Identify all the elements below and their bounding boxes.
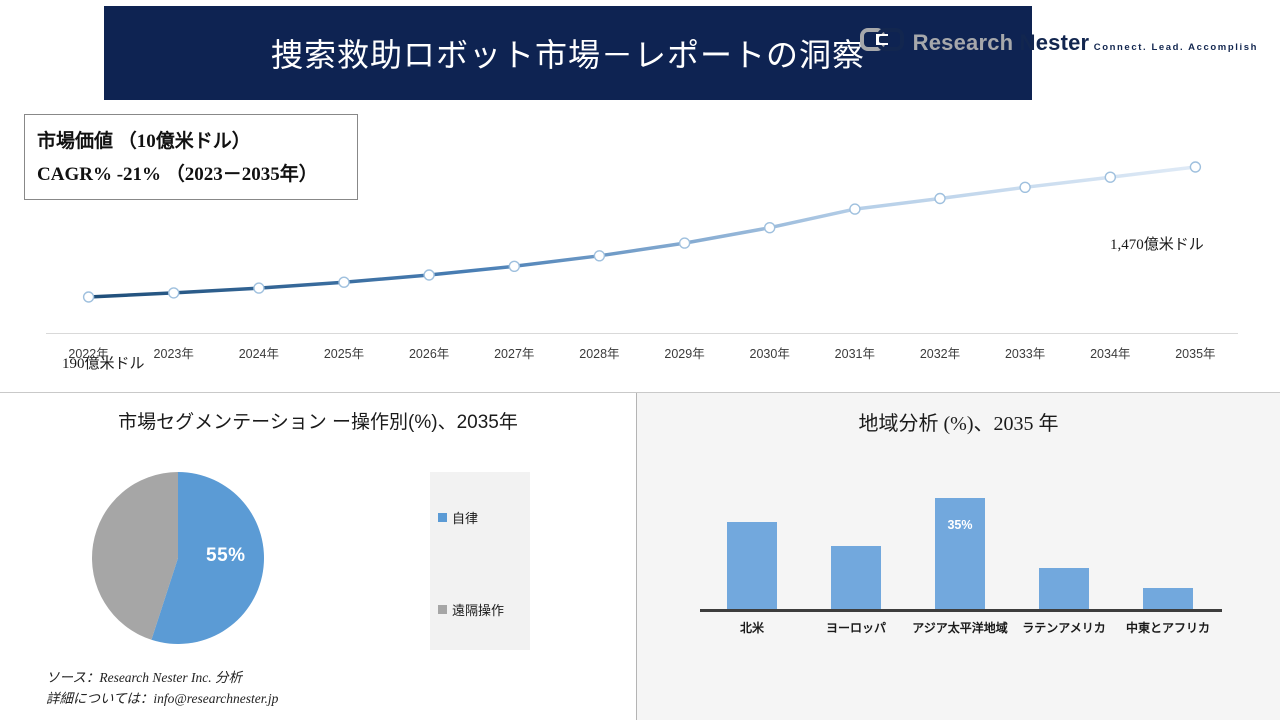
- year-label: 2030年: [727, 343, 812, 369]
- bar-category-label: ラテンアメリカ: [1012, 619, 1116, 641]
- logo-link-icon: [860, 26, 904, 59]
- logo-text: Research Nester Connect. Lead. Accomplis…: [913, 32, 1258, 54]
- line-marker: [935, 194, 945, 204]
- bar-category-labels: 北米ヨーロッパアジア太平洋地域ラテンアメリカ中東とアフリカ: [700, 619, 1220, 641]
- bar-slot: [1012, 470, 1116, 610]
- source-note: ソース：Research Nester Inc. 分析 詳細については：info…: [46, 668, 278, 710]
- line-marker: [680, 238, 690, 248]
- line-marker: [424, 270, 434, 280]
- line-marker: [1020, 182, 1030, 192]
- bar: 35%: [935, 498, 985, 610]
- year-label: 2024年: [216, 343, 301, 369]
- line-marker: [765, 223, 775, 233]
- year-label: 2028年: [557, 343, 642, 369]
- bar-slot: [700, 470, 804, 610]
- line-marker: [1105, 172, 1115, 182]
- logo-word-nester: Nester: [1020, 30, 1090, 55]
- line-marker: [1190, 162, 1200, 172]
- year-label: 2022年: [46, 343, 131, 369]
- bar-row: 35%: [700, 470, 1220, 610]
- legend-item-autonomous[interactable]: 自律: [438, 508, 478, 527]
- page-title: 捜索救助ロボット市場－レポートの洞察: [271, 30, 865, 76]
- bar-data-label: 35%: [935, 518, 985, 532]
- logo-tagline: Connect. Lead. Accomplish: [1094, 42, 1258, 53]
- legend-item-teleoperated[interactable]: 遠隔操作: [438, 600, 504, 619]
- bar-slot: [1116, 470, 1220, 610]
- year-label: 2035年: [1153, 343, 1238, 369]
- legend-label-teleoperated: 遠隔操作: [452, 600, 504, 619]
- bar-chart-baseline: [700, 609, 1222, 612]
- year-label: 2026年: [387, 343, 472, 369]
- year-label: 2034年: [1068, 343, 1153, 369]
- bar: [1039, 568, 1089, 610]
- line-marker: [594, 251, 604, 261]
- segmentation-title: 市場セグメンテーション ー操作別(%)、2035年: [0, 407, 636, 434]
- year-label: 2033年: [983, 343, 1068, 369]
- year-label: 2023年: [131, 343, 216, 369]
- bar-category-label: アジア太平洋地域: [908, 619, 1012, 641]
- year-label: 2025年: [301, 343, 386, 369]
- pie-legend: 自律 遠隔操作: [430, 472, 530, 650]
- logo-word-research: Research: [913, 30, 1014, 55]
- bar-category-label: 北米: [700, 619, 804, 641]
- legend-swatch-autonomous: [438, 513, 447, 522]
- year-label: 2029年: [642, 343, 727, 369]
- source-line-1: ソース：Research Nester Inc. 分析: [46, 668, 278, 689]
- year-label: 2031年: [812, 343, 897, 369]
- line-marker: [169, 288, 179, 298]
- page-header: 捜索救助ロボット市場－レポートの洞察 Research Nester Conne…: [0, 0, 1280, 104]
- year-label: 2027年: [472, 343, 557, 369]
- bar-category-label: 中東とアフリカ: [1116, 619, 1220, 641]
- research-nester-logo: Research Nester Connect. Lead. Accomplis…: [860, 26, 1258, 59]
- source-line-2: 詳細については：info@researchnester.jp: [46, 689, 278, 710]
- bar: [727, 522, 777, 610]
- line-marker: [254, 283, 264, 293]
- line-end-value-label: 1,470億米ドル: [1110, 233, 1204, 254]
- legend-label-autonomous: 自律: [452, 508, 478, 527]
- line-marker: [850, 204, 860, 214]
- regional-title: 地域分析 (%)、2035 年: [637, 407, 1280, 436]
- bar-slot: 35%: [908, 470, 1012, 610]
- line-marker: [84, 292, 94, 302]
- bar: [831, 546, 881, 610]
- regional-bar-chart: 35%: [700, 470, 1220, 610]
- year-label: 2032年: [897, 343, 982, 369]
- line-chart-year-labels: 2022年2023年2024年2025年2026年2027年2028年2029年…: [46, 343, 1238, 369]
- bar-slot: [804, 470, 908, 610]
- logo-title: Research Nester: [913, 30, 1090, 55]
- line-marker: [339, 277, 349, 287]
- line-marker: [509, 261, 519, 271]
- bar: [1143, 588, 1193, 610]
- bar-category-label: ヨーロッパ: [804, 619, 908, 641]
- line-chart-x-axis: [46, 333, 1238, 334]
- pie-data-label: 55%: [206, 545, 246, 567]
- legend-swatch-teleoperated: [438, 605, 447, 614]
- line-markers: [84, 162, 1201, 302]
